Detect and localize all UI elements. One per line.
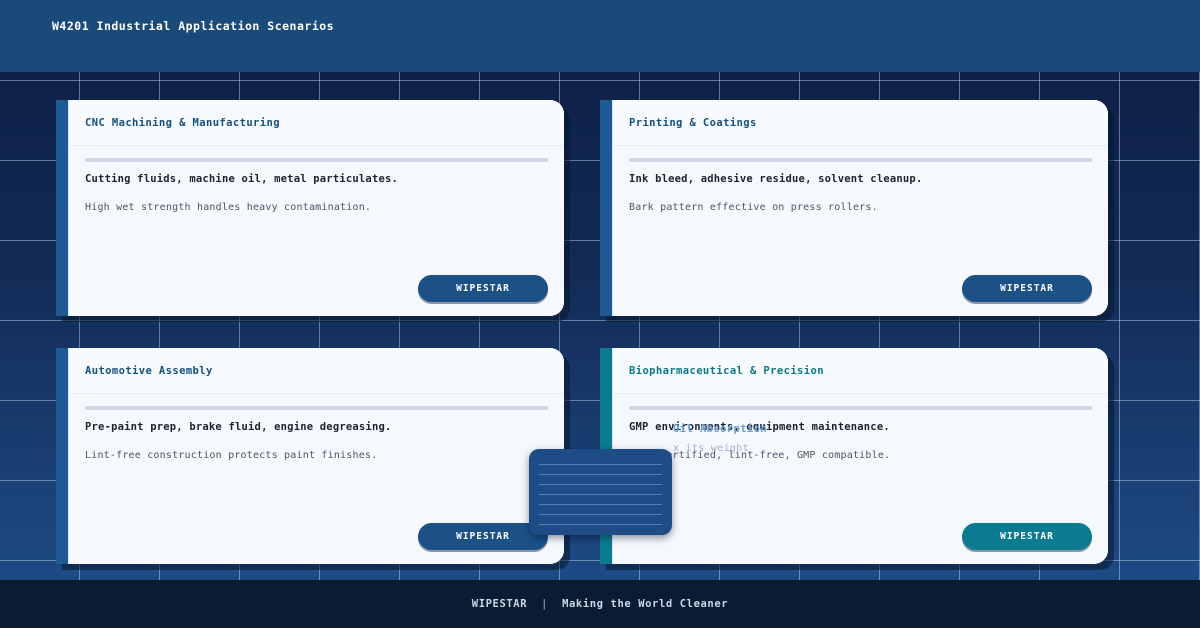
card-divider bbox=[629, 406, 1092, 410]
card-inner: Printing & Coatings Ink bleed, adhesive … bbox=[612, 100, 1108, 316]
card-header: CNC Machining & Manufacturing bbox=[69, 100, 564, 146]
card-title: Automotive Assembly bbox=[85, 365, 213, 377]
brand-button[interactable]: WIPESTAR bbox=[418, 275, 548, 302]
card-body: Pre-paint prep, brake fluid, engine degr… bbox=[69, 394, 564, 516]
card-secondary-text: Lint-free construction protects paint fi… bbox=[85, 450, 548, 461]
card-title: Printing & Coatings bbox=[629, 117, 757, 129]
card-footer: WIPESTAR bbox=[69, 268, 564, 316]
card-body: Ink bleed, adhesive residue, solvent cle… bbox=[613, 146, 1108, 268]
card-header: Printing & Coatings bbox=[613, 100, 1108, 146]
card-accent-bar bbox=[56, 348, 68, 564]
card-primary-text: Pre-paint prep, brake fluid, engine degr… bbox=[85, 421, 548, 433]
card-body: GMP environments, equipment maintenance.… bbox=[613, 394, 1108, 516]
scenario-card-automotive-assembly[interactable]: Automotive Assembly Pre-paint prep, brak… bbox=[56, 348, 564, 564]
card-accent-bar bbox=[56, 100, 68, 316]
card-primary-text: Cutting fluids, machine oil, metal parti… bbox=[85, 173, 548, 185]
footer-brand-tagline: WIPESTAR|Making the World Cleaner bbox=[472, 598, 728, 610]
card-header: Biopharmaceutical & Precision bbox=[613, 348, 1108, 394]
card-inner: Biopharmaceutical & Precision GMP enviro… bbox=[612, 348, 1108, 564]
oil-absorption-stat: Oil Absorption x its weight bbox=[673, 423, 767, 454]
scenario-card-biopharmaceutical-precision[interactable]: Biopharmaceutical & Precision GMP enviro… bbox=[600, 348, 1108, 564]
card-primary-text: Ink bleed, adhesive residue, solvent cle… bbox=[629, 173, 1092, 185]
scenario-card-printing-coatings[interactable]: Printing & Coatings Ink bleed, adhesive … bbox=[600, 100, 1108, 316]
card-footer: WIPESTAR bbox=[613, 516, 1108, 564]
stat-unit: x its weight bbox=[673, 443, 767, 454]
card-footer: WIPESTAR bbox=[69, 516, 564, 564]
card-divider bbox=[629, 158, 1092, 162]
scenario-card-cnc-machining[interactable]: CNC Machining & Manufacturing Cutting fl… bbox=[56, 100, 564, 316]
card-divider bbox=[85, 158, 548, 162]
card-inner: CNC Machining & Manufacturing Cutting fl… bbox=[68, 100, 564, 316]
card-divider bbox=[85, 406, 548, 410]
footer-tagline: Making the World Cleaner bbox=[562, 598, 728, 610]
footer-brand: WIPESTAR bbox=[472, 598, 527, 610]
app-screen: W4201 Industrial Application Scenarios C… bbox=[0, 0, 1200, 628]
card-footer: WIPESTAR bbox=[613, 268, 1108, 316]
card-secondary-text: Bark pattern effective on press rollers. bbox=[629, 202, 1092, 213]
card-title: CNC Machining & Manufacturing bbox=[85, 117, 280, 129]
card-header: Automotive Assembly bbox=[69, 348, 564, 394]
card-inner: Automotive Assembly Pre-paint prep, brak… bbox=[68, 348, 564, 564]
brand-button[interactable]: WIPESTAR bbox=[962, 275, 1092, 302]
page-footer: WIPESTAR|Making the World Cleaner bbox=[0, 580, 1200, 628]
footer-separator: | bbox=[541, 598, 548, 610]
card-secondary-text: High wet strength handles heavy contamin… bbox=[85, 202, 548, 213]
page-header: W4201 Industrial Application Scenarios bbox=[0, 0, 1200, 72]
stat-label: Oil Absorption bbox=[673, 423, 767, 435]
floating-lined-panel[interactable] bbox=[529, 449, 672, 535]
card-body: Cutting fluids, machine oil, metal parti… bbox=[69, 146, 564, 268]
card-accent-bar bbox=[600, 100, 612, 316]
panel-ruled-lines bbox=[539, 455, 662, 529]
page-title: W4201 Industrial Application Scenarios bbox=[52, 19, 334, 33]
card-title: Biopharmaceutical & Precision bbox=[629, 365, 824, 377]
brand-button[interactable]: WIPESTAR bbox=[962, 523, 1092, 550]
